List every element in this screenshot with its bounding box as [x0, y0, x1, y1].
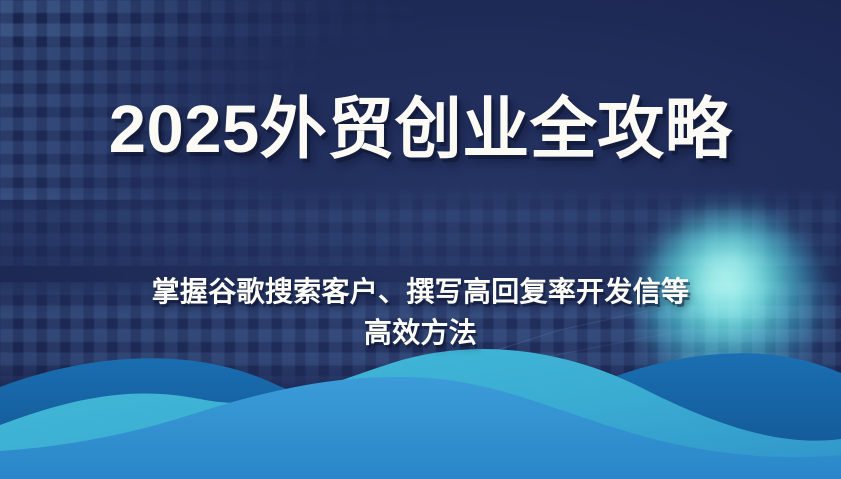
poster-title: 2025外贸创业全攻略 — [0, 96, 841, 163]
poster-subtitle: 掌握谷歌搜索客户、撰写高回复率开发信等 高效方法 — [0, 272, 841, 353]
poster-subtitle-line-1: 掌握谷歌搜索客户、撰写高回复率开发信等 — [0, 272, 841, 313]
text-content: 2025外贸创业全攻略 掌握谷歌搜索客户、撰写高回复率开发信等 高效方法 — [0, 0, 841, 479]
poster-subtitle-line-2: 高效方法 — [0, 313, 841, 354]
promo-poster: 2025外贸创业全攻略 掌握谷歌搜索客户、撰写高回复率开发信等 高效方法 — [0, 0, 841, 479]
